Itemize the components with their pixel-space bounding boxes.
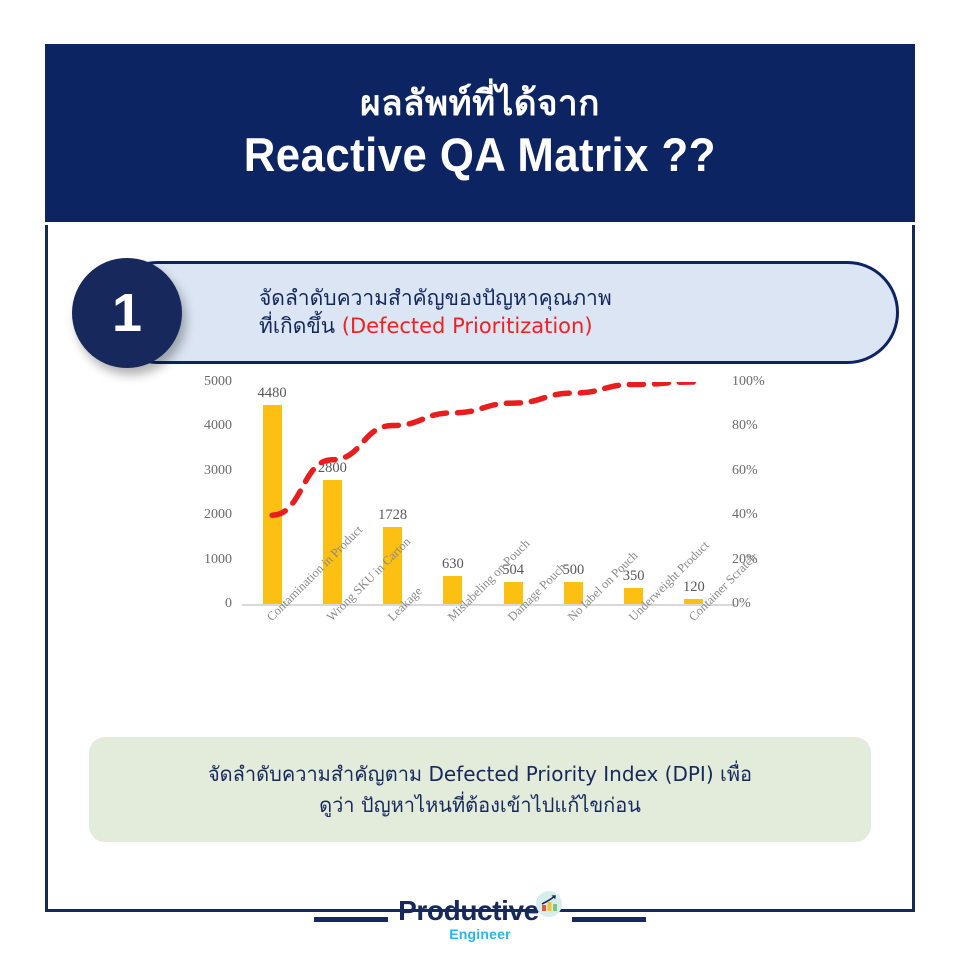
footer-rule-left bbox=[314, 917, 388, 922]
page-title-english: Reactive QA Matrix ?? bbox=[244, 129, 716, 182]
brand-logo-row: Productive bbox=[398, 897, 562, 925]
footer-logo-bar: Productive Engineer bbox=[0, 888, 960, 950]
brand-logo: Productive Engineer bbox=[398, 897, 562, 942]
pareto-chart: 010002000300040005000 0%20%40%60%80%100%… bbox=[186, 382, 786, 732]
bar-chart-arrow-icon bbox=[536, 891, 562, 917]
step-number-badge: 1 bbox=[72, 258, 182, 368]
y-axis-left-tick: 2000 bbox=[186, 508, 232, 522]
brand-name: Productive bbox=[398, 897, 539, 925]
summary-box: จัดลำดับความสำคัญตาม Defected Priority I… bbox=[89, 737, 871, 842]
header-banner: ผลลัพท์ที่ได้จาก Reactive QA Matrix ?? bbox=[45, 44, 915, 222]
y-axis-left-tick: 3000 bbox=[186, 464, 232, 478]
cumulative-line-path bbox=[272, 382, 694, 515]
y-axis-left-tick: 0 bbox=[186, 597, 232, 611]
y-axis-left-tick: 1000 bbox=[186, 553, 232, 567]
summary-line-1: จัดลำดับความสำคัญตาม Defected Priority I… bbox=[208, 759, 752, 790]
cumulative-line bbox=[242, 382, 742, 612]
callout-text-english: (Defected Prioritization) bbox=[342, 314, 593, 338]
callout-text: จัดลำดับความสำคัญของปัญหาคุณภาพ ที่เกิดข… bbox=[259, 285, 612, 340]
summary-line-2: ดูว่า ปัญหาไหนที่ต้องเข้าไปแก้ไขก่อน bbox=[319, 790, 641, 821]
callout-banner: จัดลำดับความสำคัญของปัญหาคุณภาพ ที่เกิดข… bbox=[106, 261, 899, 364]
infographic-page: ผลลัพท์ที่ได้จาก Reactive QA Matrix ?? จ… bbox=[0, 0, 960, 960]
y-axis-left-tick: 5000 bbox=[186, 375, 232, 389]
y-axis-left-tick: 4000 bbox=[186, 419, 232, 433]
page-title-thai: ผลลัพท์ที่ได้จาก bbox=[360, 84, 600, 125]
footer-rule-right bbox=[572, 917, 646, 922]
brand-tagline: Engineer bbox=[449, 926, 511, 942]
